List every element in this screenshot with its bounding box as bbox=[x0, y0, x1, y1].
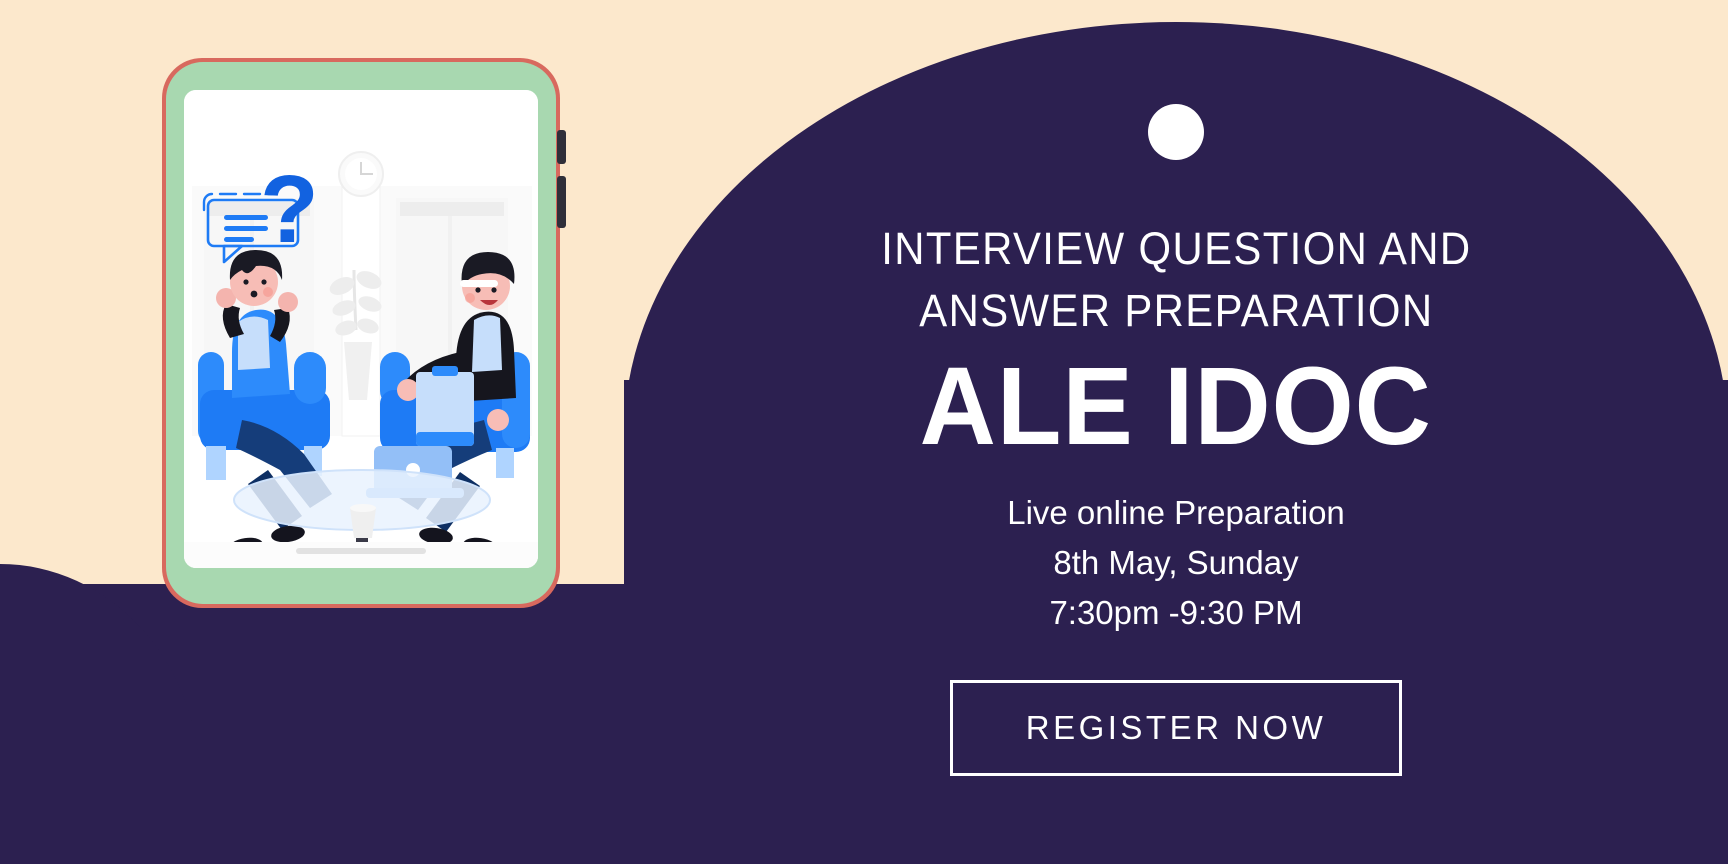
tablet-home-indicator bbox=[296, 548, 426, 554]
tablet-screen: ? bbox=[184, 90, 538, 568]
eyebrow-line-2: ANSWER PREPARATION bbox=[881, 280, 1471, 342]
interview-scene-graphic: ? bbox=[184, 90, 538, 568]
detail-date: 8th May, Sunday bbox=[1007, 538, 1345, 588]
event-details: Live online Preparation 8th May, Sunday … bbox=[1007, 488, 1345, 638]
question-mark-icon: ? bbox=[260, 156, 319, 263]
tablet-illustration: ? bbox=[162, 58, 560, 608]
detail-time: 7:30pm -9:30 PM bbox=[1007, 588, 1345, 638]
cup-icon bbox=[350, 504, 376, 538]
promo-content-panel: INTERVIEW QUESTION AND ANSWER PREPARATIO… bbox=[624, 0, 1728, 864]
register-now-button[interactable]: REGISTER NOW bbox=[950, 680, 1402, 776]
wall-clock-icon bbox=[339, 152, 383, 196]
svg-text:?: ? bbox=[260, 156, 319, 263]
eyebrow-heading: INTERVIEW QUESTION AND ANSWER PREPARATIO… bbox=[881, 218, 1471, 342]
eyebrow-line-1: INTERVIEW QUESTION AND bbox=[881, 218, 1471, 280]
banner-canvas: INTERVIEW QUESTION AND ANSWER PREPARATIO… bbox=[0, 0, 1728, 864]
detail-format: Live online Preparation bbox=[1007, 488, 1345, 538]
page-title: ALE IDOC bbox=[920, 352, 1432, 462]
tablet-volume-button bbox=[557, 130, 566, 164]
tablet-power-button bbox=[557, 176, 566, 228]
clipboard-icon bbox=[416, 366, 474, 446]
circle-mark-icon bbox=[1148, 104, 1204, 160]
